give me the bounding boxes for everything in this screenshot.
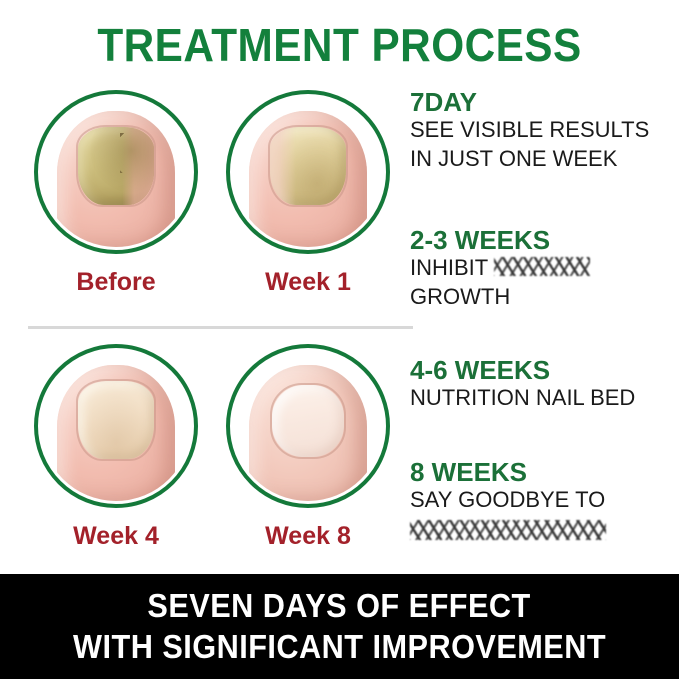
gallery-cell-week-4: Week 4 [18,336,214,551]
step-8-weeks: 8 WEEKS SAY GOODBYE TO [410,458,606,543]
step-line: SEE VISIBLE RESULTS [410,116,649,145]
step-line-text: INHIBIT [410,255,488,280]
banner-line-2: WITH SIGNIFICANT IMPROVEMENT [73,628,606,667]
step-heading: 7DAY [410,88,649,116]
nail-photo-week-1 [210,82,406,262]
redacted-word-icon [494,254,590,278]
step-line: GROWTH [410,283,590,312]
step-4-6-weeks: 4-6 WEEKS NUTRITION NAIL BED [410,356,635,413]
circle-frame-icon [34,90,198,254]
circle-frame-icon [226,344,390,508]
bottom-banner: SEVEN DAYS OF EFFECT WITH SIGNIFICANT IM… [0,574,679,679]
step-description: INHIBIT GROWTH [410,254,590,311]
nail-progress-gallery: Before Week 1 [0,82,412,560]
section-divider [28,326,413,329]
nail-photo-week-8 [210,336,406,516]
gallery-cell-week-8: Week 8 [210,336,406,551]
page-title: TREATMENT PROCESS [27,18,652,72]
gallery-cell-before: Before [18,82,214,297]
gallery-caption: Week 8 [210,522,406,551]
step-heading: 2-3 WEEKS [410,226,590,254]
step-line: IN JUST ONE WEEK [410,145,649,174]
step-line: INHIBIT [410,254,590,283]
gallery-cell-week-1: Week 1 [210,82,406,297]
step-line: NUTRITION NAIL BED [410,384,635,413]
nail-photo-week-4 [18,336,214,516]
gallery-caption: Before [18,268,214,297]
step-heading: 8 WEEKS [410,458,606,486]
redacted-word-icon [410,517,606,543]
circle-frame-icon [226,90,390,254]
gallery-caption: Week 1 [210,268,406,297]
banner-line-1: SEVEN DAYS OF EFFECT [148,587,531,626]
circle-frame-icon [34,344,198,508]
step-line: SAY GOODBYE TO [410,486,606,515]
step-description: NUTRITION NAIL BED [410,384,635,413]
step-heading: 4-6 WEEKS [410,356,635,384]
step-description: SEE VISIBLE RESULTS IN JUST ONE WEEK [410,116,649,173]
treatment-process-infographic: TREATMENT PROCESS Before [0,0,679,679]
step-description: SAY GOODBYE TO [410,486,606,543]
step-7-day: 7DAY SEE VISIBLE RESULTS IN JUST ONE WEE… [410,88,649,173]
nail-photo-before [18,82,214,262]
step-2-3-weeks: 2-3 WEEKS INHIBIT GROWTH [410,226,590,311]
gallery-caption: Week 4 [18,522,214,551]
